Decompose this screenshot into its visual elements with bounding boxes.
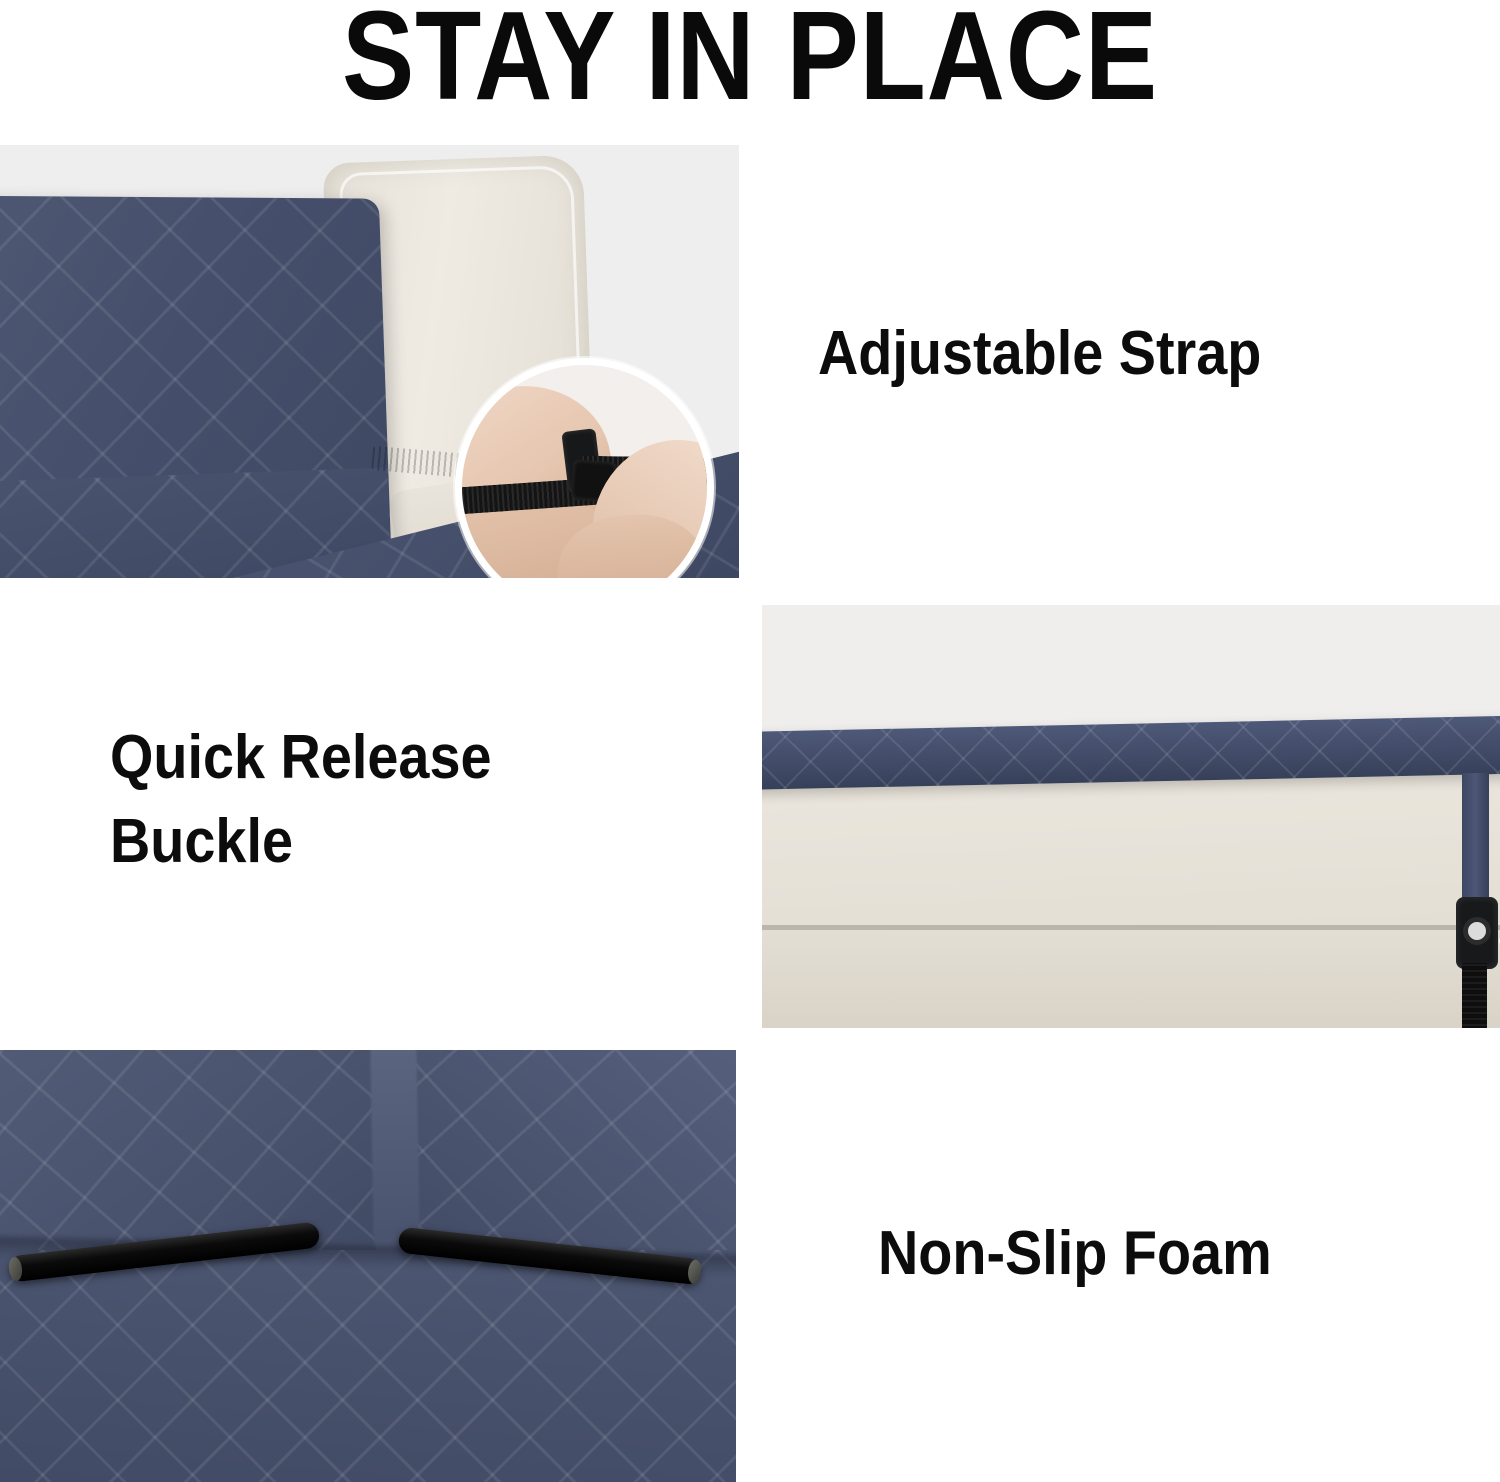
feature-image-quick-release-buckle [762,605,1500,1028]
feature-label-adjustable-strap: Adjustable Strap [818,312,1358,396]
feature-label-non-slip-foam: Non-Slip Foam [878,1212,1382,1296]
page-title: STAY IN PLACE [105,0,1395,116]
feature-label-quick-release-buckle: Quick Release Buckle [110,716,668,884]
navy-cover-seat [0,1250,736,1482]
quilting-pattern [0,1250,736,1482]
cream-sofa-base [762,930,1500,1028]
infographic-page: STAY IN PLACE Adjustable Strap [0,0,1500,1482]
navy-strap-upper [1462,773,1489,913]
black-strap-lower [1462,963,1487,1028]
strap-grommet-ring [1463,917,1491,945]
feature-image-adjustable-strap [0,145,739,578]
